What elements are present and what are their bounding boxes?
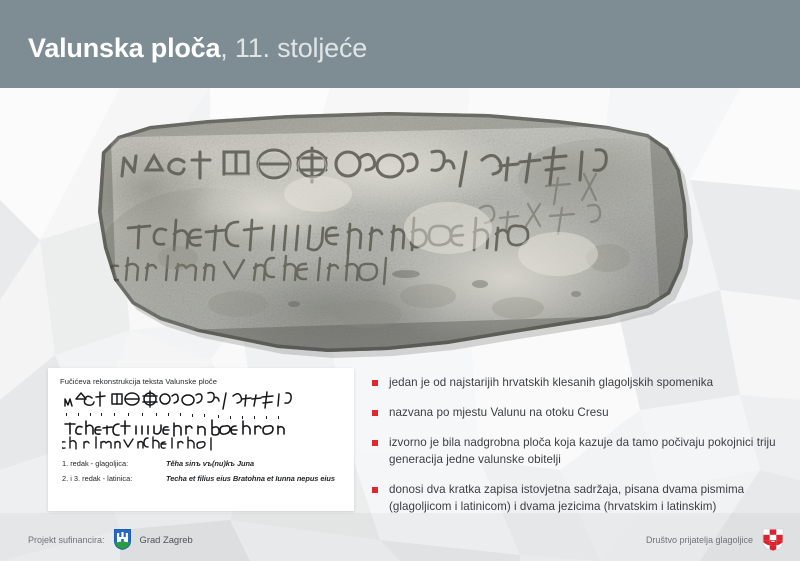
croatian-checkerboard-shield-icon [762,528,784,552]
header-bar: Valunska ploča, 11. stoljeće [0,0,800,88]
bullet-list: jedan je od najstarijih hrvatskih klesan… [372,374,792,528]
footer-organizer-label: Društvo prijatelja glagoljice [646,535,753,545]
reading-list: 1. redak - glagoljica: Těha sinъ vъ(nu)k… [62,459,342,483]
list-item: izvorno je bila nadgrobna ploča koja kaz… [372,434,792,468]
page-title: Valunska ploča, 11. stoljeće [28,31,367,65]
list-item: donosi dva kratka zapisa istovjetna sadr… [372,481,792,515]
reading-value: Techa et filius eius Bratohna et Iunna n… [166,474,335,483]
reading-label: 1. redak - glagoljica: [62,459,166,468]
reading-label: 2. i 3. redak - latinica: [62,474,166,483]
footer-sponsor: Projekt sufinancira: Grad Zagreb [28,528,193,551]
zagreb-coat-of-arms-icon [113,528,132,551]
bullet-text: izvorno je bila nadgrobna ploča koja kaz… [389,434,792,468]
bullet-square-icon [372,380,378,386]
stone-tablet-illustration [88,108,718,358]
footer-sponsor-label: Projekt sufinancira: [28,535,105,545]
page-title-main: Valunska ploča [28,33,220,63]
bullet-text: donosi dva kratka zapisa istovjetna sadr… [389,481,792,515]
reading-row: 1. redak - glagoljica: Těha sinъ vъ(nu)k… [62,459,342,468]
reconstruction-info-card: Fučićeva rekonstrukcija teksta Valunske … [48,368,354,511]
slide-root: Valunska ploča, 11. stoljeće [0,0,800,561]
reading-row: 2. i 3. redak - latinica: Techa et filiu… [62,474,342,483]
footer-sponsor-org: Grad Zagreb [140,534,193,545]
bullet-square-icon [372,410,378,416]
stone-tablet-photo [88,108,718,358]
facsimile-drawing [62,390,344,452]
list-item: nazvana po mjestu Valunu na otoku Cresu [372,404,792,421]
list-item: jedan je od najstarijih hrvatskih klesan… [372,374,792,391]
bullet-square-icon [372,440,378,446]
bullet-square-icon [372,487,378,493]
bullet-text: nazvana po mjestu Valunu na otoku Cresu [389,404,609,421]
reading-value: Těha sinъ vъ(nu)kъ Juna [166,459,254,468]
bullet-text: jedan je od najstarijih hrvatskih klesan… [389,374,713,391]
footer-organizer: Društvo prijatelja glagoljice [646,528,784,552]
page-title-subtitle: , 11. stoljeće [220,33,367,63]
info-card-title: Fučićeva rekonstrukcija teksta Valunske … [60,377,342,386]
